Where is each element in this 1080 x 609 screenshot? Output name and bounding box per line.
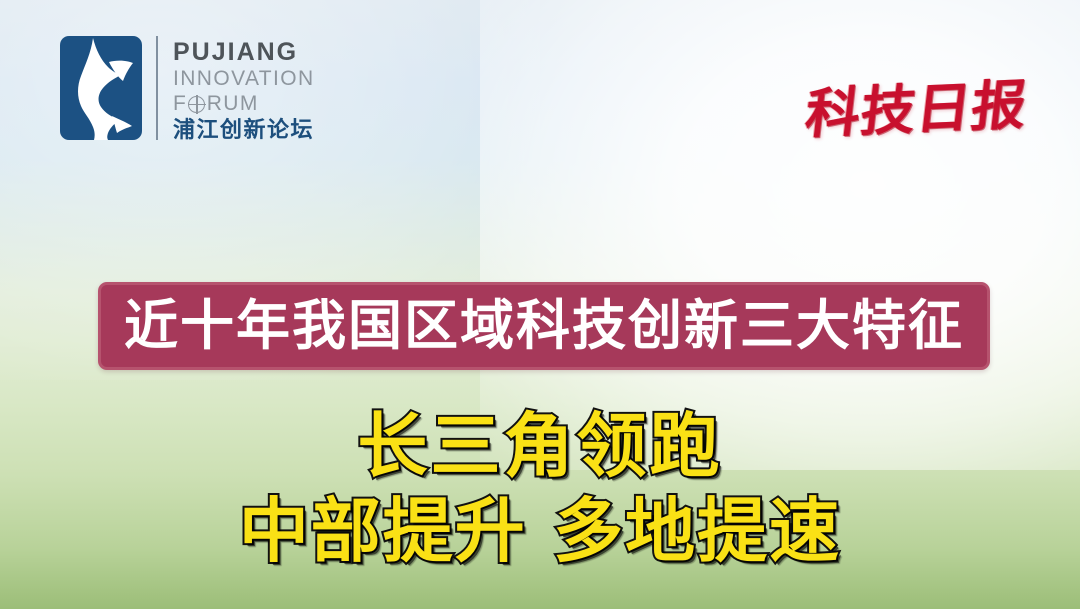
logo-text-innovation: INNOVATION (173, 66, 315, 91)
logo-text-chinese: 浦江创新论坛 (173, 118, 315, 143)
headline-line-2: 中部提升 多地提速 (0, 488, 1080, 574)
title-banner-text: 近十年我国区域科技创新三大特征 (124, 297, 964, 355)
keji-ribao-masthead: 科技日报 (812, 48, 1022, 160)
headline-block: 长三角领跑 中部提升 多地提速 (0, 404, 1080, 574)
masthead-text: 科技日报 (802, 60, 1032, 149)
pujiang-coastline-mark-icon (60, 36, 142, 140)
headline-line-1: 长三角领跑 (0, 404, 1080, 488)
logo-forum-prefix: F (173, 91, 187, 116)
logo-divider (156, 36, 158, 140)
logo-text-pujiang: PUJIANG (173, 39, 315, 65)
logo-text-forum: F RUM (173, 91, 315, 116)
logo-wordmark: PUJIANG INNOVATION F RUM 浦江创新论坛 (173, 36, 315, 143)
title-banner: 近十年我国区域科技创新三大特征 (98, 282, 990, 370)
pujiang-forum-logo: PUJIANG INNOVATION F RUM 浦江创新论坛 (60, 36, 315, 144)
globe-o-icon (188, 96, 205, 113)
logo-forum-suffix: RUM (207, 91, 259, 116)
poster-canvas: PUJIANG INNOVATION F RUM 浦江创新论坛 科技日报 近十年… (0, 0, 1080, 609)
